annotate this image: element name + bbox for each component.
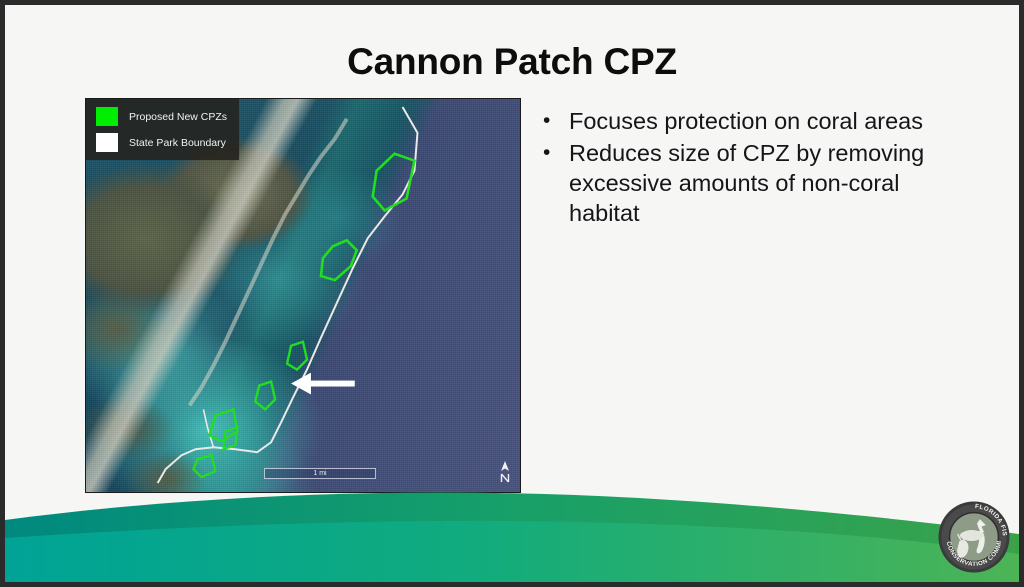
annotation-arrow-icon — [291, 373, 355, 395]
list-item: • Reduces size of CPZ by removing excess… — [543, 138, 971, 228]
legend-swatch-proposed-cpz — [96, 107, 118, 126]
bullet-text: Focuses protection on coral areas — [569, 106, 971, 136]
fwc-logo: FLORIDA FISH AND WILDLIFE CONSERVATION C… — [937, 500, 1011, 574]
list-item: • Focuses protection on coral areas — [543, 106, 971, 136]
legend-swatch-state-park-boundary — [96, 133, 118, 152]
map-legend: Proposed New CPZs State Park Boundary — [86, 99, 239, 160]
presentation-slide: Cannon Patch CPZ • Focuses protection on… — [0, 0, 1024, 587]
legend-item: Proposed New CPZs — [96, 107, 227, 126]
cpz-polygon — [209, 409, 237, 441]
state-park-boundary-line — [158, 107, 418, 483]
legend-label: State Park Boundary — [129, 137, 226, 149]
cpz-polygon — [287, 342, 307, 370]
cpz-polygon — [255, 382, 275, 410]
map-figure: Proposed New CPZs State Park Boundary 1 … — [85, 98, 521, 493]
bullet-list: • Focuses protection on coral areas • Re… — [543, 106, 971, 230]
cpz-polygon — [321, 240, 357, 280]
legend-label: Proposed New CPZs — [129, 111, 227, 123]
bullet-marker-icon: • — [543, 138, 569, 168]
bullet-marker-icon: • — [543, 106, 569, 136]
legend-item: State Park Boundary — [96, 133, 227, 152]
bullet-text: Reduces size of CPZ by removing excessiv… — [569, 138, 971, 228]
cpz-polygon — [223, 427, 237, 449]
footer-wave-decoration — [5, 472, 1019, 582]
page-title: Cannon Patch CPZ — [5, 41, 1019, 83]
